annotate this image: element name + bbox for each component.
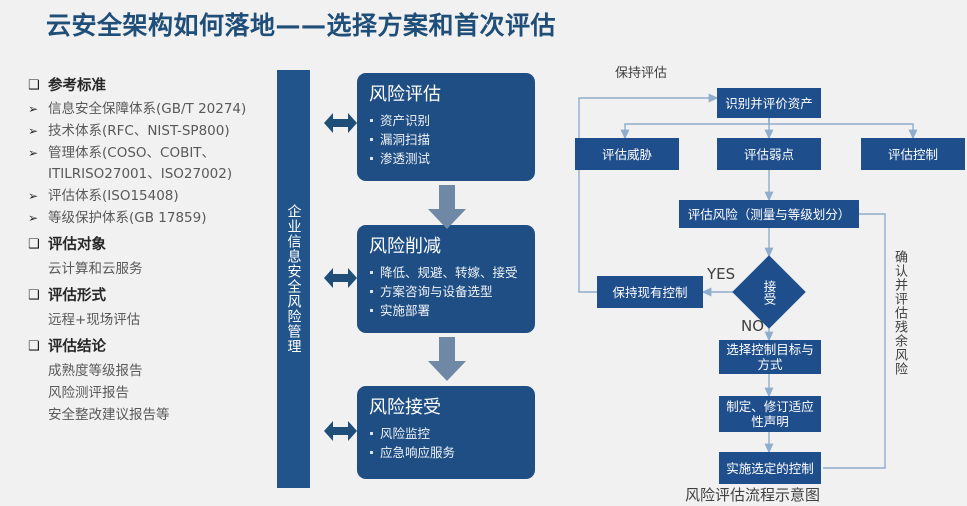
risk-reduction-card[interactable]: 风险削减 降低、规避、转嫁、接受 方案咨询与设备选型 实施部署 [357, 225, 535, 333]
sidebar-item-label: 技术体系(RFC、NIST-SP800) [48, 121, 276, 142]
sidebar-item-label: 管理体系(COSO、COBIT、ITILRISO27001、ISO27002) [48, 143, 276, 185]
sidebar-plain-text: 远程+现场评估 [28, 309, 276, 331]
page-title: 云安全架构如何落地——选择方案和首次评估 [46, 6, 556, 42]
flow-label-keep-assessment: 保持评估 [615, 66, 667, 82]
card-bullet-list: 降低、规避、转嫁、接受 方案咨询与设备选型 实施部署 [369, 263, 523, 320]
flow-label-yes: YES [707, 266, 735, 282]
sidebar-item-label: 评估体系(ISO15408) [48, 186, 276, 207]
square-bullet-icon: ❑ [28, 337, 48, 357]
sidebar-section-heading-1: ❑ 评估对象 [28, 235, 276, 255]
flow-node-keep-control[interactable]: 保持现有控制 [597, 276, 703, 308]
square-bullet-icon: ❑ [28, 235, 48, 255]
sidebar-plain-text: 安全整改建议报告等 [28, 404, 276, 426]
sidebar-item: ➢ 等级保护体系(GB 17859) [28, 208, 276, 229]
sidebar-heading-label: 参考标准 [48, 76, 106, 96]
flow-node-draft-statement[interactable]: 制定、修订适应性声明 [719, 396, 821, 432]
card-bullet: 应急响应服务 [369, 443, 523, 462]
sidebar-item: ➢ 评估体系(ISO15408) [28, 186, 276, 207]
card-bullet: 渗透测试 [369, 149, 523, 168]
sidebar-item: ➢ 信息安全保障体系(GB/T 20274) [28, 99, 276, 120]
flow-node-identify-assets[interactable]: 识别并评价资产 [717, 88, 821, 118]
down-arrow-icon [428, 185, 466, 229]
card-bullet: 资产识别 [369, 111, 523, 130]
arrow-bullet-icon: ➢ [28, 143, 48, 164]
flow-node-assess-weakness[interactable]: 评估弱点 [717, 138, 821, 170]
risk-acceptance-card[interactable]: 风险接受 风险监控 应急响应服务 [357, 386, 535, 479]
sidebar-section-heading-3: ❑ 评估结论 [28, 337, 276, 357]
flow-node-assess-risk[interactable]: 评估风险（测量与等级划分） [679, 200, 859, 228]
arrow-bullet-icon: ➢ [28, 208, 48, 229]
sidebar-section-heading-2: ❑ 评估形式 [28, 286, 276, 306]
decision-label: 接受 [762, 280, 777, 305]
square-bullet-icon: ❑ [28, 286, 48, 306]
flowchart-caption: 风险评估流程示意图 [685, 484, 820, 505]
sidebar-item-label: 信息安全保障体系(GB/T 20274) [48, 99, 276, 120]
card-bullet: 漏洞扫描 [369, 130, 523, 149]
arrow-bullet-icon: ➢ [28, 186, 48, 207]
flow-node-assess-control[interactable]: 评估控制 [861, 138, 965, 170]
sidebar-heading-label: 评估对象 [48, 235, 106, 255]
double-arrow-icon [324, 418, 357, 444]
risk-assessment-flowchart: 识别并评价资产 评估威胁 评估弱点 评估控制 评估风险（测量与等级划分） 接受 … [575, 60, 967, 506]
card-title: 风险削减 [369, 234, 523, 260]
slide-canvas: 云安全架构如何落地——选择方案和首次评估 ❑ 参考标准 ➢ 信息安全保障体系(G… [0, 0, 967, 506]
card-bullet-list: 风险监控 应急响应服务 [369, 424, 523, 462]
card-title: 风险接受 [369, 395, 523, 421]
sidebar-heading-label: 评估结论 [48, 337, 106, 357]
card-bullet: 方案咨询与设备选型 [369, 282, 523, 301]
card-bullet: 降低、规避、转嫁、接受 [369, 263, 523, 282]
down-arrow-icon [428, 337, 466, 381]
vertical-bar-label: 企业信息安全风险管理 [285, 204, 303, 354]
flow-node-assess-threat[interactable]: 评估威胁 [575, 138, 679, 170]
card-bullet: 实施部署 [369, 301, 523, 320]
sidebar-section-heading-0: ❑ 参考标准 [28, 76, 276, 96]
enterprise-risk-management-bar: 企业信息安全风险管理 [277, 70, 310, 488]
reference-sidebar: ❑ 参考标准 ➢ 信息安全保障体系(GB/T 20274) ➢ 技术体系(RFC… [28, 70, 276, 426]
square-bullet-icon: ❑ [28, 76, 48, 96]
sidebar-plain-text: 成熟度等级报告 [28, 360, 276, 382]
flow-node-select-objective[interactable]: 选择控制目标与方式 [719, 340, 821, 374]
arrow-bullet-icon: ➢ [28, 99, 48, 120]
card-bullet-list: 资产识别 漏洞扫描 渗透测试 [369, 111, 523, 168]
card-bullet: 风险监控 [369, 424, 523, 443]
double-arrow-icon [324, 110, 357, 136]
sidebar-item: ➢ 管理体系(COSO、COBIT、ITILRISO27001、ISO27002… [28, 143, 276, 185]
flow-label-no: NO [741, 318, 764, 334]
arrow-bullet-icon: ➢ [28, 121, 48, 142]
double-arrow-icon [324, 265, 357, 291]
sidebar-item-label: 等级保护体系(GB 17859) [48, 208, 276, 229]
sidebar-plain-text: 云计算和云服务 [28, 258, 276, 280]
flow-node-implement-control[interactable]: 实施选定的控制 [719, 452, 821, 484]
sidebar-heading-label: 评估形式 [48, 286, 106, 306]
sidebar-plain-text: 风险测评报告 [28, 382, 276, 404]
sidebar-item: ➢ 技术体系(RFC、NIST-SP800) [28, 121, 276, 142]
card-title: 风险评估 [369, 82, 523, 108]
risk-assessment-card[interactable]: 风险评估 资产识别 漏洞扫描 渗透测试 [357, 73, 535, 181]
flow-label-residual-risk: 确认并评估残余风险 [891, 250, 908, 376]
